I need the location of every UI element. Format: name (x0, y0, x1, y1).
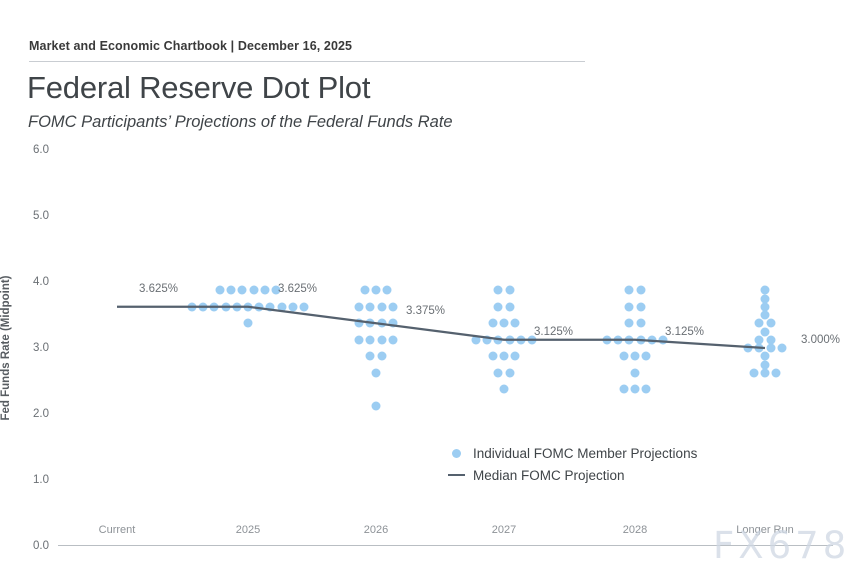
x-axis-tick: 2028 (623, 524, 647, 536)
x-axis-tick: Current (99, 524, 136, 536)
y-axis-tick: 3.0 (33, 342, 49, 354)
y-axis-tick: 4.0 (33, 276, 49, 288)
x-axis-tick: 2026 (364, 524, 388, 536)
legend-dot-icon (452, 449, 461, 458)
median-value-label: 3.125% (665, 326, 704, 338)
x-axis-line (58, 545, 833, 546)
legend-item-median: Median FOMC Projection (450, 464, 697, 486)
y-axis-tick: 6.0 (33, 144, 49, 156)
legend-label-median: Median FOMC Projection (473, 468, 625, 483)
x-axis-tick: 2025 (236, 524, 260, 536)
chart-legend: Individual FOMC Member Projections Media… (450, 442, 697, 486)
page-title: Federal Reserve Dot Plot (27, 70, 370, 106)
median-line (58, 150, 833, 546)
median-value-label: 3.375% (406, 305, 445, 317)
median-value-label: 3.625% (139, 283, 178, 295)
x-axis-tick: Longer Run (736, 524, 794, 536)
y-axis-tick: 0.0 (33, 540, 49, 552)
median-value-label: 3.000% (801, 334, 840, 346)
page-subtitle: FOMC Participants’ Projections of the Fe… (28, 113, 453, 132)
legend-line-icon (448, 474, 465, 476)
header-divider (29, 61, 585, 62)
median-value-label: 3.625% (278, 283, 317, 295)
dot-plot-area: Fed Funds Rate (Midpoint) 0.01.02.03.04.… (58, 150, 833, 546)
legend-item-individual: Individual FOMC Member Projections (450, 442, 697, 464)
chart-page: Market and Economic Chartbook | December… (0, 0, 849, 581)
median-value-label: 3.125% (534, 326, 573, 338)
y-axis-tick: 2.0 (33, 408, 49, 420)
y-axis-label: Fed Funds Rate (Midpoint) (0, 275, 12, 420)
y-axis-tick: 1.0 (33, 474, 49, 486)
legend-label-individual: Individual FOMC Member Projections (473, 446, 697, 461)
x-axis-tick: 2027 (492, 524, 516, 536)
y-axis-tick: 5.0 (33, 210, 49, 222)
chartbook-kicker: Market and Economic Chartbook | December… (29, 39, 352, 53)
